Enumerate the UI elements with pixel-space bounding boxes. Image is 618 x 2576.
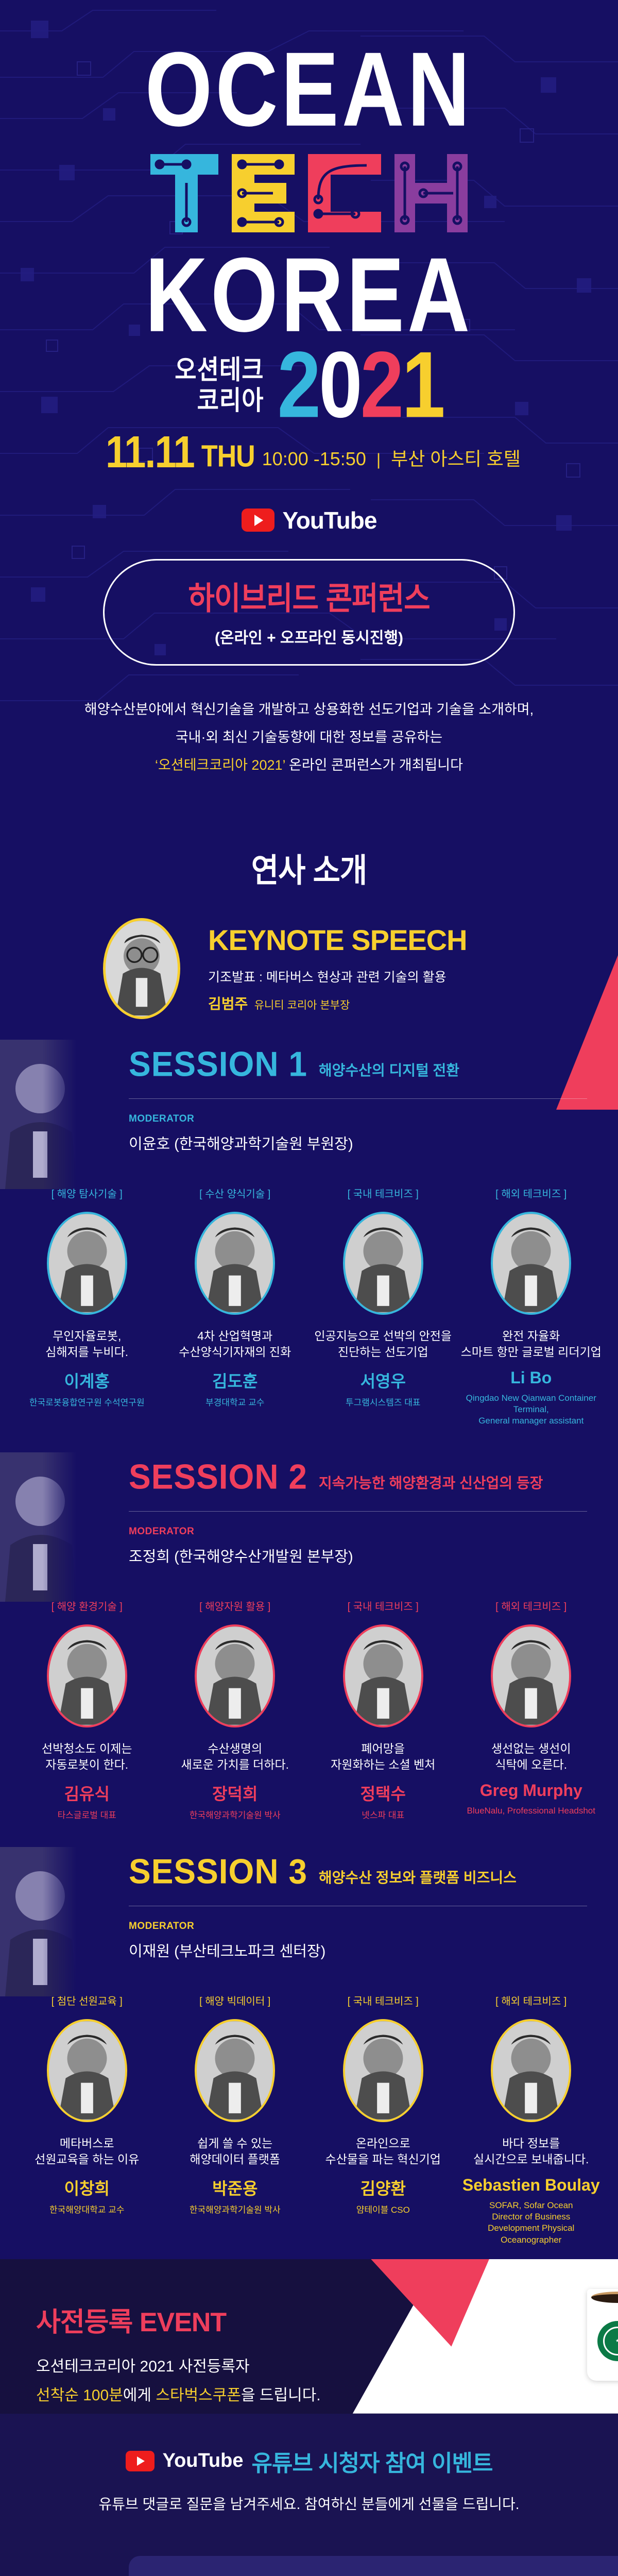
youtube-label-2: YouTube <box>163 2450 244 2472</box>
prereg-title: 사전등록 EVENT <box>36 2300 618 2339</box>
title-ocean: OCEAN <box>0 41 618 138</box>
session-topic: 지속가능한 해양환경과 신산업의 등장 <box>319 1472 543 1493</box>
keynote-text: KEYNOTE SPEECH 기조발표 : 메타버스 현상과 관련 기술의 활용… <box>208 923 467 1013</box>
year-digit-1: 2 <box>278 343 319 427</box>
event-day: THU <box>201 438 255 474</box>
youtube-badge-row[interactable]: YouTube <box>0 506 618 534</box>
youtube-play-icon <box>242 509 274 532</box>
speaker-card: [ 국내 테크비즈 ]폐어망을자원화하는 소셜 벤처정택수넷스파 대표 <box>311 1598 456 1821</box>
prereg-highlight-2: 스타벅스쿠폰 <box>156 2387 241 2404</box>
hero-desc-rest: 온라인 콘퍼런스가 개최됩니다 <box>285 757 463 773</box>
year-2021: 2 0 2 1 <box>278 343 443 427</box>
speaker-organization: SOFAR, Sofar OceanDirector of BusinessDe… <box>459 2200 604 2245</box>
moderator-label: MODERATOR <box>129 1526 587 1537</box>
session-moderator-photo <box>0 1040 77 1189</box>
korean-title-and-year: 오션테크 코리아 2 0 2 1 <box>0 350 618 420</box>
session-divider <box>129 1906 587 1906</box>
tech-letter-e <box>230 152 297 234</box>
speaker-category-tag: [ 해외 테크비즈 ] <box>495 1598 566 1613</box>
speaker-card: [ 해양 빅데이터 ]쉽게 쓸 수 있는해양데이터 플랫폼박준용한국해양과학기술… <box>163 1993 308 2245</box>
youtube-event-section: YouTube 유튜브 시청자 참여 이벤트 유튜브 댓글로 질문을 남겨주세요… <box>0 2414 618 2576</box>
keynote-speaker-photo <box>103 918 180 1019</box>
youtube-label: YouTube <box>283 506 377 534</box>
title-tech <box>0 152 618 234</box>
speaker-category-tag: [ 수산 양식기술 ] <box>199 1185 270 1200</box>
speaker-name: Li Bo <box>510 1368 552 1387</box>
tech-letter-c <box>306 152 383 234</box>
prereg-title-korean: 사전등록 <box>36 2308 132 2337</box>
speaker-grid: [ 첨단 선원교육 ]메타버스로선원교육을 하는 이유이창희한국해양대학교 교수… <box>0 1966 618 2259</box>
speaker-category-tag: [ 해양자원 활용 ] <box>199 1598 270 1613</box>
prereg-line2-mid: 에게 <box>123 2387 156 2404</box>
speaker-organization: 투그램시스템즈 대표 <box>346 1397 420 1409</box>
keynote-speaker-org: 유니티 코리아 본부장 <box>254 999 350 1011</box>
session-number: SESSION 2 <box>129 1456 307 1497</box>
speaker-photo <box>343 1624 423 1727</box>
youtube-event-title: 유튜브 시청자 참여 이벤트 <box>251 2445 492 2478</box>
moderator-name: 이재원 (부산테크노파크 센터장) <box>129 1939 587 1961</box>
speaker-card: [ 수산 양식기술 ]4차 산업혁명과수산양식기자재의 진화김도훈부경대학교 교… <box>163 1185 308 1427</box>
sessions-container: SESSION 1해양수산의 디지털 전환MODERATOR이윤호 (한국해양과… <box>0 1027 618 2259</box>
keynote-speaker-name: 김범주 <box>208 996 248 1012</box>
speaker-card: [ 해양자원 활용 ]수산생명의새로운 가치를 더하다.장덕희한국해양과학기술원… <box>163 1598 308 1821</box>
speaker-name: 박준용 <box>212 2176 257 2199</box>
hero-desc-highlight: ‘오션테크코리아 2021’ <box>155 757 285 773</box>
prereg-line-1: 오션테크코리아 2021 사전등록자 <box>36 2353 618 2376</box>
speaker-card: [ 해외 테크비즈 ]바다 정보를실시간으로 보내줍니다.Sebastien B… <box>459 1993 604 2245</box>
hero-description: 해양수산분야에서 혁신기술을 개발하고 상용화한 선도기업과 기술을 소개하며,… <box>44 696 574 815</box>
year-digit-3: 2 <box>360 343 402 427</box>
speaker-name: 김유식 <box>64 1781 110 1805</box>
moderator-label: MODERATOR <box>129 1921 587 1932</box>
speaker-name: 서영우 <box>360 1368 406 1392</box>
speaker-talk-title: 폐어망을자원화하는 소셜 벤처 <box>331 1741 435 1774</box>
session-body: SESSION 1해양수산의 디지털 전환MODERATOR이윤호 (한국해양과… <box>0 1045 618 1154</box>
speaker-grid: [ 해양 탐사기술 ]무인자율로봇,심해저를 누비다.이계홍한국로봇융합연구원 … <box>0 1159 618 1440</box>
hero-section: OCEAN <box>0 0 618 815</box>
event-time: 10:00 -15:50 <box>262 448 366 470</box>
speaker-category-tag: [ 국내 테크비즈 ] <box>348 1598 419 1613</box>
speaker-category-tag: [ 국내 테크비즈 ] <box>348 1185 419 1200</box>
poster-root: OCEAN <box>0 0 618 2576</box>
hybrid-subtitle: (온라인 + 오프라인 동시진행) <box>105 625 513 648</box>
speaker-organization: 한국해양과학기술원 박사 <box>190 2205 281 2216</box>
keynote-topic: 기조발표 : 메타버스 현상과 관련 기술의 활용 <box>208 967 467 986</box>
speaker-grid: [ 해양 환경기술 ]선박청소도 이제는자동로봇이 한다.김유식타스글로벌 대표… <box>0 1571 618 1835</box>
speaker-card: [ 해외 테크비즈 ]완전 자율화스마트 항만 글로벌 리더기업Li BoQin… <box>459 1185 604 1427</box>
prereg-text: 사전등록 EVENT 오션테크코리아 2021 사전등록자 선착순 100분에게… <box>0 2259 618 2405</box>
speaker-organization: BlueNalu, Professional Headshot <box>467 1805 595 1817</box>
event-venue: 부산 아스티 호텔 <box>391 444 521 471</box>
year-digit-4: 1 <box>402 343 443 427</box>
speaker-name: 이창희 <box>64 2176 110 2199</box>
speaker-organization: 넷스파 대표 <box>362 1810 404 1821</box>
korean-title-line2: 코리아 <box>175 385 264 415</box>
speaker-photo <box>47 1624 127 1727</box>
moderator-name: 이윤호 (한국해양과학기술원 부원장) <box>129 1132 587 1154</box>
hybrid-conference-box: 하이브리드 콘퍼런스 (온라인 + 오프라인 동시진행) <box>103 559 515 666</box>
speaker-photo <box>195 1212 275 1315</box>
speaker-photo <box>491 2019 571 2122</box>
session-block: SESSION 2지속가능한 해양환경과 신산업의 등장MODERATOR조정희… <box>0 1440 618 1571</box>
speaker-card: [ 해외 테크비즈 ]생선없는 생선이식탁에 오른다.Greg MurphyBl… <box>459 1598 604 1821</box>
session-divider <box>129 1511 587 1512</box>
session-moderator-photo <box>0 1452 77 1602</box>
speaker-category-tag: [ 해양 빅데이터 ] <box>199 1993 270 2008</box>
speaker-photo <box>491 1624 571 1727</box>
speaker-talk-title: 무인자율로봇,심해저를 누비다. <box>45 1328 128 1361</box>
session-moderator-photo <box>0 1847 77 1996</box>
prereg-event-section: ★ ★ 사전등록 EVENT 오션테크코리아 2021 사전등록자 선착순 10… <box>0 2259 618 2414</box>
hero-desc-line-2: 국내·외 최신 기술동향에 대한 정보를 공유하는 <box>44 723 574 751</box>
title-korea: KOREA <box>0 246 618 344</box>
session-heading: SESSION 3해양수산 정보와 플랫폼 비즈니스 <box>129 1852 587 1890</box>
speaker-card: [ 국내 테크비즈 ]온라인으로수산물을 파는 혁신기업김양환얌테이블 CSO <box>311 1993 456 2245</box>
speakers-section-title: 연사 소개 <box>0 815 618 897</box>
speaker-organization: 한국해양대학교 교수 <box>49 2205 124 2216</box>
prereg-title-english: EVENT <box>140 2308 226 2337</box>
hero-desc-line-1: 해양수산분야에서 혁신기술을 개발하고 상용화한 선도기업과 기술을 소개하며, <box>44 696 574 723</box>
speaker-category-tag: [ 해외 테크비즈 ] <box>495 1993 566 2008</box>
year-digit-2: 0 <box>319 343 360 427</box>
speaker-talk-title: 인공지능으로 선박의 안전을진단하는 선도기업 <box>314 1328 452 1361</box>
keynote-block: KEYNOTE SPEECH 기조발표 : 메타버스 현상과 관련 기술의 활용… <box>0 893 618 1027</box>
speaker-photo <box>47 2019 127 2122</box>
event-date: 11.11 <box>106 426 194 478</box>
youtube-event-header: YouTube 유튜브 시청자 참여 이벤트 <box>0 2445 618 2478</box>
date-separator: | <box>373 450 384 469</box>
speaker-card: [ 국내 테크비즈 ]인공지능으로 선박의 안전을진단하는 선도기업서영우투그램… <box>311 1185 456 1427</box>
prereg-line-2: 선착순 100분에게 스타벅스쿠폰을 드립니다. <box>36 2382 618 2405</box>
korean-title: 오션테크 코리아 <box>175 354 264 415</box>
session-topic: 해양수산 정보와 플랫폼 비즈니스 <box>319 1867 517 1887</box>
speaker-card: [ 해양 환경기술 ]선박청소도 이제는자동로봇이 한다.김유식타스글로벌 대표 <box>14 1598 160 1821</box>
keynote-heading: KEYNOTE SPEECH <box>208 923 467 957</box>
speaker-photo <box>343 1212 423 1315</box>
speaker-category-tag: [ 해외 테크비즈 ] <box>495 1185 566 1200</box>
speaker-talk-title: 쉽게 쓸 수 있는해양데이터 플랫폼 <box>190 2136 280 2168</box>
speaker-organization: 부경대학교 교수 <box>205 1397 264 1409</box>
session-body: SESSION 3해양수산 정보와 플랫폼 비즈니스MODERATOR이재원 (… <box>0 1852 618 1961</box>
gift-panel-background <box>129 2556 618 2576</box>
speaker-talk-title: 바다 정보를실시간으로 보내줍니다. <box>473 2136 589 2168</box>
speaker-talk-title: 완전 자율화스마트 항만 글로벌 리더기업 <box>461 1328 602 1361</box>
speaker-photo <box>343 2019 423 2122</box>
speaker-photo <box>491 1212 571 1315</box>
speaker-name: 김양환 <box>360 2176 406 2199</box>
session-body: SESSION 2지속가능한 해양환경과 신산업의 등장MODERATOR조정희… <box>0 1458 618 1566</box>
speaker-card: [ 해양 탐사기술 ]무인자율로봇,심해저를 누비다.이계홍한국로봇융합연구원 … <box>14 1185 160 1427</box>
speaker-card: [ 첨단 선원교육 ]메타버스로선원교육을 하는 이유이창희한국해양대학교 교수 <box>14 1993 160 2245</box>
speaker-name: 이계홍 <box>64 1368 110 1392</box>
hybrid-title: 하이브리드 콘퍼런스 <box>105 573 513 619</box>
prereg-highlight-1: 선착순 100분 <box>36 2387 123 2404</box>
speaker-organization: 타스글로벌 대표 <box>58 1810 116 1821</box>
speaker-talk-title: 온라인으로수산물을 파는 혁신기업 <box>325 2136 441 2168</box>
prereg-line2-end: 을 드립니다. <box>241 2387 321 2404</box>
speaker-photo <box>47 1212 127 1315</box>
speaker-organization: 한국로봇융합연구원 수석연구원 <box>29 1397 145 1409</box>
tech-letter-t <box>148 152 220 234</box>
speakers-section: 연사 소개 KEYNOTE SPEECH 기조발표 : 메타버스 현상과 관련 … <box>0 815 618 2259</box>
session-number: SESSION 3 <box>129 1851 307 1891</box>
speaker-talk-title: 4차 산업혁명과수산양식기자재의 진화 <box>179 1328 291 1361</box>
speaker-name: 정택수 <box>360 1781 406 1805</box>
speaker-organization: 한국해양과학기술원 박사 <box>190 1810 281 1821</box>
speaker-photo <box>195 2019 275 2122</box>
speaker-name: 장덕희 <box>212 1781 257 1805</box>
youtube-event-subtitle: 유튜브 댓글로 질문을 남겨주세요. 참여하신 분들에게 선물을 드립니다. <box>0 2493 618 2514</box>
session-number: SESSION 1 <box>129 1044 307 1084</box>
speaker-name: Sebastien Boulay <box>462 2176 600 2195</box>
session-block: SESSION 1해양수산의 디지털 전환MODERATOR이윤호 (한국해양과… <box>0 1027 618 1159</box>
coffee-cup-large: ★ <box>587 2289 618 2381</box>
speaker-name: Greg Murphy <box>480 1781 582 1800</box>
session-block: SESSION 3해양수산 정보와 플랫폼 비즈니스MODERATOR이재원 (… <box>0 1835 618 1966</box>
session-heading: SESSION 1해양수산의 디지털 전환 <box>129 1045 587 1083</box>
speaker-talk-title: 선박청소도 이제는자동로봇이 한다. <box>42 1741 132 1774</box>
youtube-event-body: 오션테크 2021 바다의 미래를 만드는 신기술 OCEAN ★ ① 질문채택… <box>0 2544 618 2576</box>
session-heading: SESSION 2지속가능한 해양환경과 신산업의 등장 <box>129 1458 587 1496</box>
speaker-organization: 얌테이블 CSO <box>356 2205 410 2216</box>
moderator-name: 조정희 (한국해양수산개발원 본부장) <box>129 1545 587 1566</box>
tech-letter-h <box>392 152 470 234</box>
keynote-speaker-line: 김범주 유니티 코리아 본부장 <box>208 993 467 1013</box>
speaker-photo <box>195 1624 275 1727</box>
session-topic: 해양수산의 디지털 전환 <box>319 1059 459 1080</box>
korean-title-line1: 오션테크 <box>175 354 264 385</box>
speaker-talk-title: 메타버스로선원교육을 하는 이유 <box>35 2136 139 2168</box>
speaker-talk-title: 생선없는 생선이식탁에 오른다. <box>491 1741 571 1774</box>
speaker-organization: Qingdao New Qianwan Container Terminal,G… <box>459 1393 604 1427</box>
hero-desc-line-3: ‘오션테크코리아 2021’ 온라인 콘퍼런스가 개최됩니다 <box>44 751 574 779</box>
speaker-category-tag: [ 국내 테크비즈 ] <box>348 1993 419 2008</box>
session-divider <box>129 1098 587 1099</box>
youtube-play-icon-2 <box>126 2451 154 2471</box>
speaker-name: 김도훈 <box>212 1368 257 1392</box>
moderator-label: MODERATOR <box>129 1113 587 1125</box>
speaker-talk-title: 수산생명의새로운 가치를 더하다. <box>181 1741 289 1774</box>
